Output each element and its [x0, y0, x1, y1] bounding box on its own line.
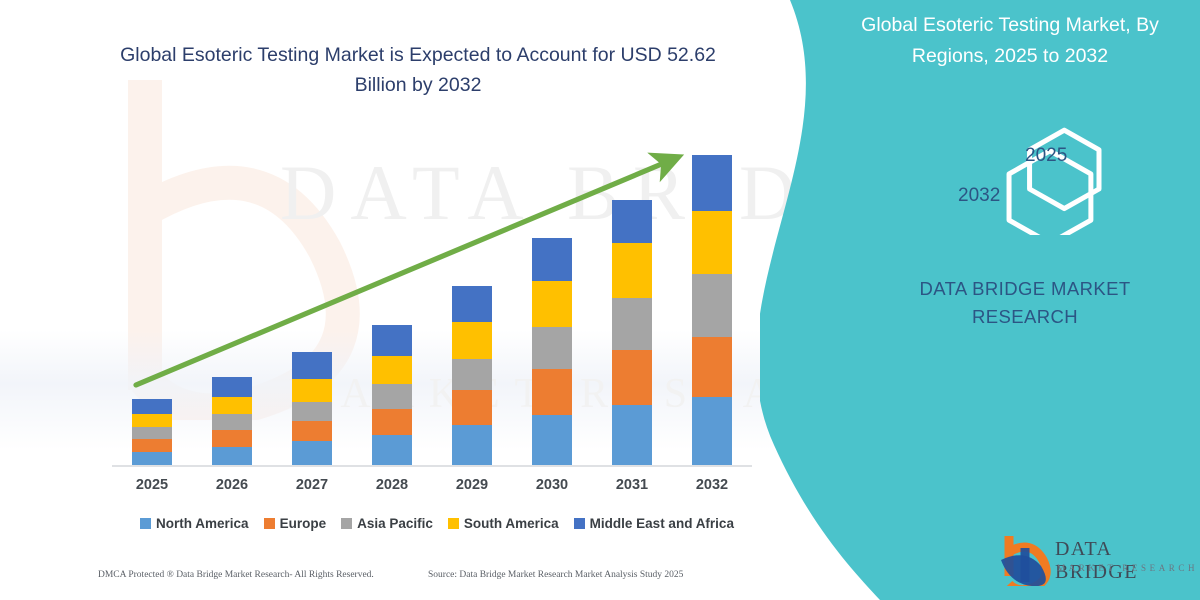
- footer-source-text: Source: Data Bridge Market Research Mark…: [428, 570, 683, 580]
- bar-segment: [612, 200, 652, 243]
- bar-segment: [612, 298, 652, 350]
- bar-segment: [292, 441, 332, 465]
- bar-segment: [612, 350, 652, 405]
- x-axis-label: 2025: [112, 477, 192, 493]
- bar-segment: [372, 356, 412, 384]
- legend-item: Middle East and Africa: [574, 516, 734, 531]
- x-axis-label: 2030: [512, 477, 592, 493]
- bar-segment: [372, 409, 412, 435]
- bar-column: [452, 286, 492, 465]
- bar-column: [692, 155, 732, 465]
- side-panel-brand: DATA BRIDGE MARKET RESEARCH: [880, 275, 1170, 331]
- bar-segment: [692, 397, 732, 465]
- bar-segment: [692, 274, 732, 337]
- bar-segment: [132, 427, 172, 439]
- bar-segment: [612, 243, 652, 298]
- chart-plot-area: 20252026202720282029203020312032: [0, 0, 800, 600]
- footer-dmca-text: DMCA Protected ® Data Bridge Market Rese…: [98, 570, 374, 580]
- footer: DMCA Protected ® Data Bridge Market Rese…: [0, 566, 800, 590]
- legend-label: Asia Pacific: [357, 516, 433, 531]
- bar-segment: [132, 452, 172, 465]
- bar-segment: [532, 281, 572, 327]
- hexagon-label-2032: 2032: [958, 185, 1000, 207]
- x-axis-label: 2032: [672, 477, 752, 493]
- bar-segment: [452, 359, 492, 390]
- bar-segment: [532, 415, 572, 465]
- x-axis-label: 2028: [352, 477, 432, 493]
- bar-segment: [372, 325, 412, 356]
- bar-column: [372, 325, 412, 465]
- bar-segment: [292, 352, 332, 379]
- legend-label: Middle East and Africa: [590, 516, 734, 531]
- x-axis-label: 2027: [272, 477, 352, 493]
- stacked-bar-series: [0, 0, 800, 600]
- bar-segment: [292, 421, 332, 441]
- bar-segment: [532, 327, 572, 369]
- bar-segment: [292, 402, 332, 421]
- legend-swatch-icon: [448, 518, 459, 529]
- bar-column: [132, 399, 172, 465]
- bar-segment: [692, 337, 732, 397]
- bar-segment: [612, 405, 652, 465]
- legend-label: North America: [156, 516, 249, 531]
- bar-segment: [452, 390, 492, 425]
- chart-legend: North AmericaEuropeAsia PacificSouth Ame…: [112, 513, 762, 533]
- logo-text-primary: DATA BRIDGE: [1055, 538, 1200, 584]
- bar-column: [612, 200, 652, 465]
- x-axis-label: 2029: [432, 477, 512, 493]
- bar-column: [212, 377, 252, 465]
- bar-segment: [132, 399, 172, 414]
- side-panel-title: Global Esoteric Testing Market, By Regio…: [835, 10, 1185, 72]
- logo-text-secondary: MARKET RESEARCH: [1057, 563, 1198, 573]
- legend-swatch-icon: [574, 518, 585, 529]
- bar-segment: [212, 377, 252, 397]
- bar-segment: [692, 211, 732, 274]
- legend-item: Europe: [264, 516, 327, 531]
- hexagon-label-2025: 2025: [1025, 145, 1067, 167]
- legend-swatch-icon: [264, 518, 275, 529]
- bar-segment: [372, 384, 412, 409]
- legend-label: South America: [464, 516, 559, 531]
- bar-segment: [372, 435, 412, 465]
- x-axis-label: 2026: [192, 477, 272, 493]
- side-panel-brand-line-2: RESEARCH: [880, 303, 1170, 331]
- bar-segment: [212, 414, 252, 430]
- bar-segment: [212, 447, 252, 465]
- bar-segment: [452, 425, 492, 465]
- hexagon-shapes-icon: [920, 105, 1120, 235]
- legend-swatch-icon: [341, 518, 352, 529]
- bar-segment: [452, 286, 492, 322]
- infographic-canvas: DATA BRIDGE MARKET RESEARCH Global Esote…: [0, 0, 1200, 600]
- bar-segment: [212, 397, 252, 414]
- side-panel-brand-line-1: DATA BRIDGE MARKET: [880, 275, 1170, 303]
- bar-column: [532, 238, 572, 465]
- bar-segment: [692, 155, 732, 211]
- bar-segment: [132, 439, 172, 452]
- bar-column: [292, 352, 332, 465]
- bar-segment: [532, 238, 572, 281]
- bar-segment: [212, 430, 252, 447]
- legend-item: North America: [140, 516, 249, 531]
- legend-label: Europe: [280, 516, 327, 531]
- legend-item: South America: [448, 516, 559, 531]
- bar-segment: [452, 322, 492, 359]
- legend-swatch-icon: [140, 518, 151, 529]
- legend-item: Asia Pacific: [341, 516, 433, 531]
- bar-segment: [292, 379, 332, 402]
- bar-segment: [132, 414, 172, 427]
- hexagon-group: 2032 2025: [920, 105, 1120, 235]
- bar-segment: [532, 369, 572, 415]
- x-axis-label: 2031: [592, 477, 672, 493]
